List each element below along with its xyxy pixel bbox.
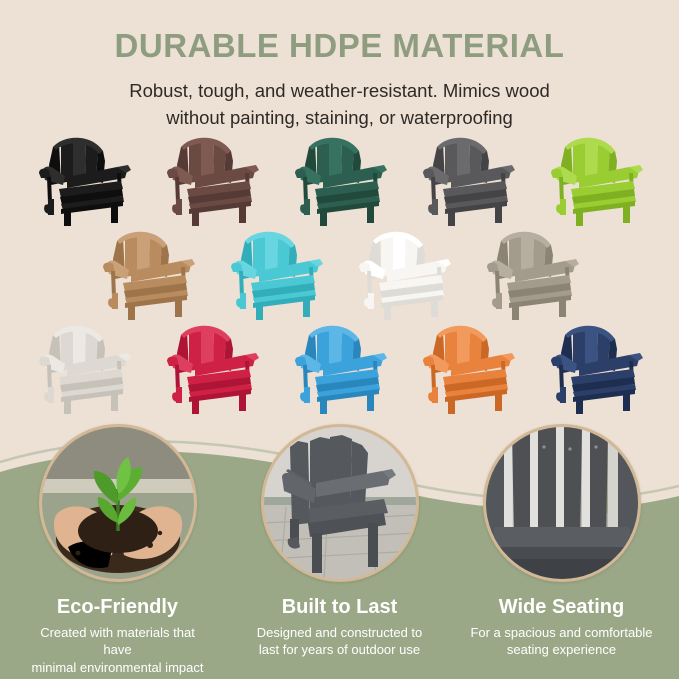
feature-wide-seating: Wide Seating For a spacious and comforta… — [469, 424, 655, 676]
wide-slatted-chair-seat-closeup-photo — [483, 424, 641, 582]
chair-driftwood — [479, 225, 585, 321]
chair-turquoise — [223, 225, 329, 321]
feature-eco-friendly: Eco-Friendly Created with materials that… — [25, 424, 211, 676]
chair-white — [351, 225, 457, 321]
product-infographic: DURABLE HDPE MATERIAL Robust, tough, and… — [0, 0, 679, 679]
adirondack-chair-icon — [223, 225, 329, 321]
patio-chair-illustration — [264, 427, 416, 579]
adirondack-chair-icon — [95, 225, 201, 321]
feature-built-to-last: Built to Last Designed and constructed t… — [247, 424, 433, 676]
seedling-illustration — [42, 427, 194, 579]
chair-seat-closeup-illustration — [486, 427, 638, 579]
chair-row-2 — [0, 225, 679, 321]
page-title: DURABLE HDPE MATERIAL — [0, 28, 679, 64]
adirondack-chair-icon — [31, 319, 137, 415]
adirondack-chair-icon — [287, 131, 393, 227]
feature-title: Built to Last — [247, 596, 433, 619]
adirondack-chair-icon — [479, 225, 585, 321]
page-subtitle: Robust, tough, and weather-resistant. Mi… — [80, 78, 600, 131]
chair-dark-green — [287, 131, 393, 227]
feature-desc-line-2: minimal environmental impact — [25, 659, 211, 676]
adirondack-chair-icon — [415, 131, 521, 227]
feature-desc-line-1: Created with materials that have — [25, 624, 211, 659]
feature-title: Wide Seating — [469, 596, 655, 619]
adirondack-chair-icon — [351, 225, 457, 321]
feature-description: Created with materials that have minimal… — [25, 624, 211, 676]
feature-description: Designed and constructed to last for yea… — [247, 624, 433, 659]
chair-dark-gray — [415, 131, 521, 227]
adirondack-chair-icon — [159, 131, 265, 227]
feature-description: For a spacious and comfortable seating e… — [469, 624, 655, 659]
chair-row-1 — [0, 131, 679, 227]
adirondack-chair-icon — [415, 319, 521, 415]
chair-brown — [159, 131, 265, 227]
chair-sky-blue — [287, 319, 393, 415]
chair-ivory-gray — [31, 319, 137, 415]
feature-desc-line-1: For a spacious and comfortable — [469, 624, 655, 641]
chair-orange — [415, 319, 521, 415]
feature-highlights: Eco-Friendly Created with materials that… — [0, 424, 679, 676]
hands-holding-seedling-photo — [39, 424, 197, 582]
gray-adirondack-chair-on-patio-photo — [261, 424, 419, 582]
chair-black — [31, 131, 137, 227]
feature-desc-line-2: seating experience — [469, 641, 655, 658]
adirondack-chair-icon — [159, 319, 265, 415]
chair-color-grid — [0, 131, 679, 415]
adirondack-chair-icon — [31, 131, 137, 227]
adirondack-chair-icon — [543, 131, 649, 227]
header: DURABLE HDPE MATERIAL Robust, tough, and… — [0, 28, 679, 131]
chair-navy — [543, 319, 649, 415]
subtitle-line-2: without painting, staining, or waterproo… — [80, 105, 600, 131]
chair-teak — [95, 225, 201, 321]
feature-desc-line-1: Designed and constructed to — [247, 624, 433, 641]
feature-desc-line-2: last for years of outdoor use — [247, 641, 433, 658]
chair-crimson — [159, 319, 265, 415]
adirondack-chair-icon — [543, 319, 649, 415]
subtitle-line-1: Robust, tough, and weather-resistant. Mi… — [80, 78, 600, 104]
chair-row-3 — [0, 319, 679, 415]
chair-lime-green — [543, 131, 649, 227]
feature-title: Eco-Friendly — [25, 596, 211, 619]
adirondack-chair-icon — [287, 319, 393, 415]
